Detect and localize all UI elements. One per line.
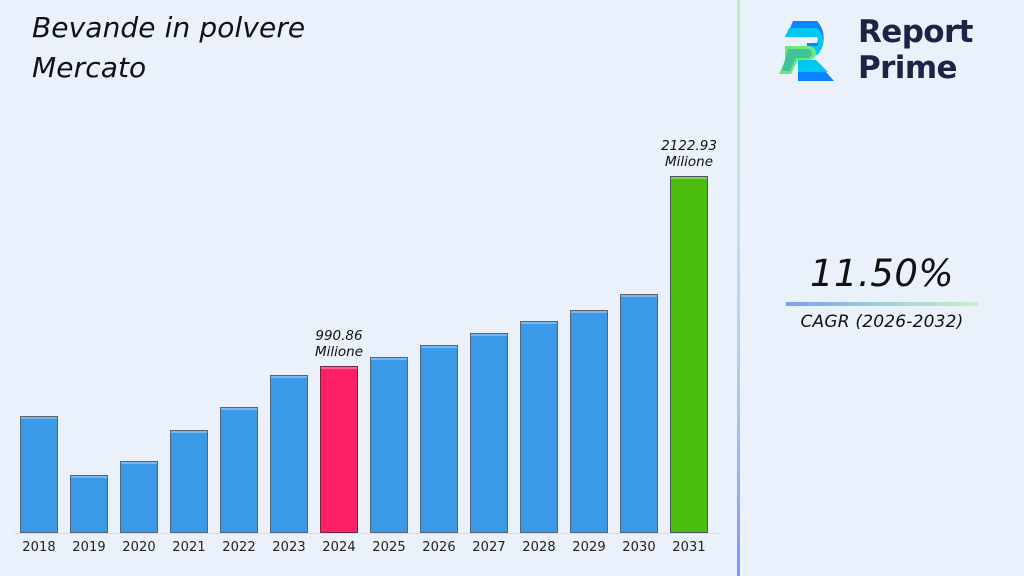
x-axis-label-2024: 2024	[314, 540, 364, 555]
bar-top-highlight	[21, 417, 57, 419]
chart-canvas: Bevande in polvere Mercato 990.86Milione…	[0, 0, 1024, 576]
value-label-number: 990.86	[278, 328, 400, 344]
value-label-2031: 2122.93Milione	[628, 138, 750, 170]
cagr-label: CAGR (2026-2032)	[740, 312, 1024, 332]
bar-2027[interactable]	[470, 333, 508, 533]
x-axis-label-2021: 2021	[164, 540, 214, 555]
bar-2019[interactable]	[70, 475, 108, 533]
bar-2021[interactable]	[170, 430, 208, 533]
bar-2030[interactable]	[620, 294, 658, 533]
cagr-block: 11.50% CAGR (2026-2032)	[740, 252, 1024, 332]
bar-2031[interactable]	[670, 176, 708, 533]
bar-top-highlight	[321, 367, 357, 369]
x-axis-label-2030: 2030	[614, 540, 664, 555]
bar-top-highlight	[71, 476, 107, 478]
bar-top-highlight	[121, 462, 157, 464]
bar-top-highlight	[171, 431, 207, 433]
x-axis-label-2023: 2023	[264, 540, 314, 555]
x-axis-line	[14, 533, 720, 534]
bar-chart: 990.86Milione2122.93Milione 201820192020…	[0, 0, 737, 576]
bar-2022[interactable]	[220, 407, 258, 533]
bar-2024[interactable]	[320, 366, 358, 533]
brand-logo: Report Prime	[776, 12, 1000, 92]
x-axis-label-2027: 2027	[464, 540, 514, 555]
x-axis-label-2025: 2025	[364, 540, 414, 555]
bar-2028[interactable]	[520, 321, 558, 533]
bar-2023[interactable]	[270, 375, 308, 533]
bar-top-highlight	[571, 311, 607, 313]
value-label-unit: Milione	[628, 154, 750, 170]
bar-top-highlight	[671, 177, 707, 179]
value-label-number: 2122.93	[628, 138, 750, 154]
brand-name: Report Prime	[858, 14, 973, 86]
x-axis-label-2026: 2026	[414, 540, 464, 555]
bar-2025[interactable]	[370, 357, 408, 533]
bar-2020[interactable]	[120, 461, 158, 533]
bar-top-highlight	[621, 295, 657, 297]
bar-2018[interactable]	[20, 416, 58, 533]
x-axis-label-2020: 2020	[114, 540, 164, 555]
cagr-value: 11.50%	[740, 252, 1024, 296]
bar-top-highlight	[221, 408, 257, 410]
bar-top-highlight	[521, 322, 557, 324]
x-axis-label-2019: 2019	[64, 540, 114, 555]
bar-top-highlight	[271, 376, 307, 378]
brand-name-line-1: Report	[858, 14, 973, 50]
report-prime-r-logo-icon	[776, 16, 850, 90]
bar-top-highlight	[471, 334, 507, 336]
right-panel: Report Prime 11.50% CAGR (2026-2032)	[740, 0, 1024, 576]
bar-2026[interactable]	[420, 345, 458, 533]
bar-2029[interactable]	[570, 310, 608, 533]
x-axis-label-2022: 2022	[214, 540, 264, 555]
value-label-unit: Milione	[278, 344, 400, 360]
x-axis-label-2029: 2029	[564, 540, 614, 555]
cagr-divider	[786, 302, 978, 306]
x-axis-label-2018: 2018	[14, 540, 64, 555]
x-axis-label-2031: 2031	[664, 540, 714, 555]
value-label-2024: 990.86Milione	[278, 328, 400, 360]
brand-name-line-2: Prime	[858, 50, 973, 86]
bar-top-highlight	[421, 346, 457, 348]
x-axis-label-2028: 2028	[514, 540, 564, 555]
